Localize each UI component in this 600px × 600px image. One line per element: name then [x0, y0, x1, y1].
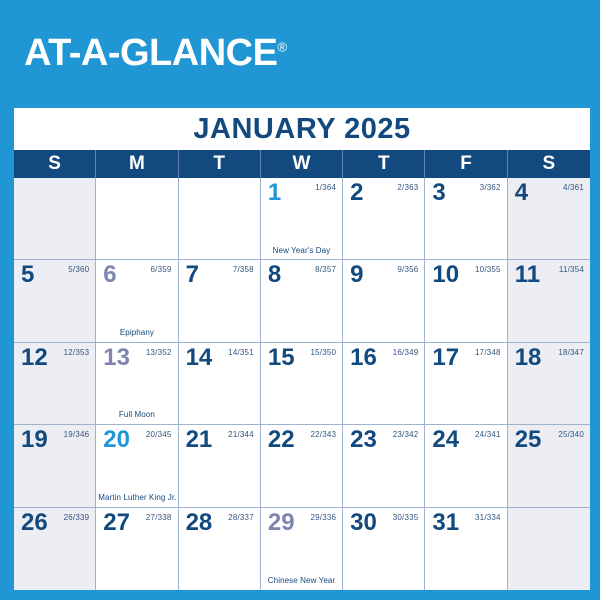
julian-date: 20/345 [146, 431, 172, 439]
julian-date: 24/341 [475, 431, 501, 439]
day-cell-2[interactable]: 22/363 [343, 178, 425, 260]
page-title: JANUARY 2025 [193, 115, 410, 144]
day-of-week-1: M [96, 150, 178, 178]
day-cell-16[interactable]: 1616/349 [343, 343, 425, 425]
day-of-week-5: F [425, 150, 507, 178]
day-number: 22 [268, 427, 295, 452]
day-number: 10 [432, 262, 459, 287]
day-cell-7[interactable]: 77/358 [179, 260, 261, 342]
day-number: 29 [268, 510, 295, 535]
julian-date: 7/358 [233, 266, 254, 274]
julian-date: 9/356 [397, 266, 418, 274]
day-of-week-2: T [179, 150, 261, 178]
day-cell-31[interactable]: 3131/334 [425, 508, 507, 590]
day-number: 1 [268, 180, 281, 205]
julian-date: 30/335 [393, 514, 419, 522]
day-cell-5[interactable]: 55/360 [14, 260, 96, 342]
day-cell-28[interactable]: 2828/337 [179, 508, 261, 590]
day-cell-20[interactable]: 2020/345Martin Luther King Jr. Day [96, 425, 178, 507]
day-number: 14 [186, 345, 213, 370]
julian-date: 29/336 [310, 514, 336, 522]
registered-trademark-icon: ® [277, 39, 287, 54]
day-number: 18 [515, 345, 542, 370]
day-cell-24[interactable]: 2424/341 [425, 425, 507, 507]
julian-date: 14/351 [228, 349, 254, 357]
day-number: 7 [186, 262, 199, 287]
day-of-week-3: W [261, 150, 343, 178]
day-cell-empty [508, 508, 590, 590]
day-cell-empty [96, 178, 178, 260]
julian-date: 18/347 [558, 349, 584, 357]
day-cell-4[interactable]: 44/361 [508, 178, 590, 260]
julian-date: 28/337 [228, 514, 254, 522]
julian-date: 27/338 [146, 514, 172, 522]
day-cell-14[interactable]: 1414/351 [179, 343, 261, 425]
day-number: 16 [350, 345, 377, 370]
day-cell-19[interactable]: 1919/346 [14, 425, 96, 507]
day-number: 15 [268, 345, 295, 370]
day-number: 3 [432, 180, 445, 205]
day-cell-6[interactable]: 66/359Epiphany [96, 260, 178, 342]
julian-date: 26/339 [64, 514, 90, 522]
day-of-week-4: T [343, 150, 425, 178]
day-number: 8 [268, 262, 281, 287]
month-title-bar: JANUARY 2025 [14, 108, 590, 150]
day-cell-8[interactable]: 88/357 [261, 260, 343, 342]
day-cell-1[interactable]: 11/364New Year's Day [261, 178, 343, 260]
day-number: 11 [515, 262, 540, 287]
day-cell-17[interactable]: 1717/348 [425, 343, 507, 425]
day-number: 23 [350, 427, 377, 452]
day-cell-21[interactable]: 2121/344 [179, 425, 261, 507]
day-number: 21 [186, 427, 213, 452]
calendar-frame: JANUARY 2025 SMTWTFS 11/364New Year's Da… [14, 108, 590, 590]
julian-date: 12/353 [64, 349, 90, 357]
day-number: 9 [350, 262, 363, 287]
julian-date: 13/352 [146, 349, 172, 357]
event-label: Full Moon [98, 411, 175, 420]
day-number: 5 [21, 262, 34, 287]
day-number: 6 [103, 262, 116, 287]
event-label: Chinese New Year [263, 577, 340, 586]
day-number: 28 [186, 510, 213, 535]
day-cell-empty [179, 178, 261, 260]
day-cell-3[interactable]: 33/362 [425, 178, 507, 260]
julian-date: 25/340 [558, 431, 584, 439]
day-cell-12[interactable]: 1212/353 [14, 343, 96, 425]
julian-date: 11/354 [559, 266, 584, 274]
day-number: 30 [350, 510, 377, 535]
day-number: 24 [432, 427, 459, 452]
day-cell-29[interactable]: 2929/336Chinese New Year [261, 508, 343, 590]
day-cell-13[interactable]: 1313/352Full Moon [96, 343, 178, 425]
day-of-week-0: S [14, 150, 96, 178]
event-label: Epiphany [98, 329, 175, 338]
day-number: 25 [515, 427, 542, 452]
julian-date: 15/350 [310, 349, 336, 357]
julian-date: 19/346 [64, 431, 90, 439]
julian-date: 16/349 [393, 349, 419, 357]
day-number: 26 [21, 510, 48, 535]
day-number: 12 [21, 345, 48, 370]
julian-date: 5/360 [68, 266, 89, 274]
day-cell-15[interactable]: 1515/350 [261, 343, 343, 425]
day-cell-9[interactable]: 99/356 [343, 260, 425, 342]
day-number: 27 [103, 510, 130, 535]
brand-name: AT-A-GLANCE [24, 32, 277, 74]
day-cell-26[interactable]: 2626/339 [14, 508, 96, 590]
event-label: New Year's Day [263, 247, 340, 256]
day-number: 31 [432, 510, 459, 535]
day-cell-27[interactable]: 2727/338 [96, 508, 178, 590]
at-a-glance-logo: AT-A-GLANCE® [24, 34, 287, 72]
day-number: 20 [103, 427, 130, 452]
day-cell-25[interactable]: 2525/340 [508, 425, 590, 507]
julian-date: 10/355 [475, 266, 501, 274]
day-cell-11[interactable]: 1111/354 [508, 260, 590, 342]
julian-date: 23/342 [393, 431, 419, 439]
day-cell-18[interactable]: 1818/347 [508, 343, 590, 425]
brand-header: AT-A-GLANCE® [0, 0, 600, 106]
day-cell-23[interactable]: 2323/342 [343, 425, 425, 507]
day-number: 13 [103, 345, 130, 370]
julian-date: 3/362 [480, 184, 501, 192]
julian-date: 6/359 [151, 266, 172, 274]
julian-date: 17/348 [475, 349, 501, 357]
calendar-page: AT-A-GLANCE® JANUARY 2025 SMTWTFS 11/364… [0, 0, 600, 600]
julian-date: 4/361 [563, 184, 584, 192]
day-cell-22[interactable]: 2222/343 [261, 425, 343, 507]
day-number: 19 [21, 427, 48, 452]
calendar-grid: 11/364New Year's Day22/36333/36244/36155… [14, 178, 590, 590]
julian-date: 22/343 [310, 431, 336, 439]
day-number: 17 [432, 345, 459, 370]
julian-date: 21/344 [228, 431, 254, 439]
julian-date: 1/364 [315, 184, 336, 192]
day-of-week-header: SMTWTFS [14, 150, 590, 178]
julian-date: 8/357 [315, 266, 336, 274]
day-cell-30[interactable]: 3030/335 [343, 508, 425, 590]
event-label: Martin Luther King Jr. Day [98, 494, 175, 503]
day-number: 4 [515, 180, 528, 205]
day-of-week-6: S [508, 150, 590, 178]
day-number: 2 [350, 180, 363, 205]
day-cell-empty [14, 178, 96, 260]
day-cell-10[interactable]: 1010/355 [425, 260, 507, 342]
julian-date: 2/363 [397, 184, 418, 192]
julian-date: 31/334 [475, 514, 501, 522]
